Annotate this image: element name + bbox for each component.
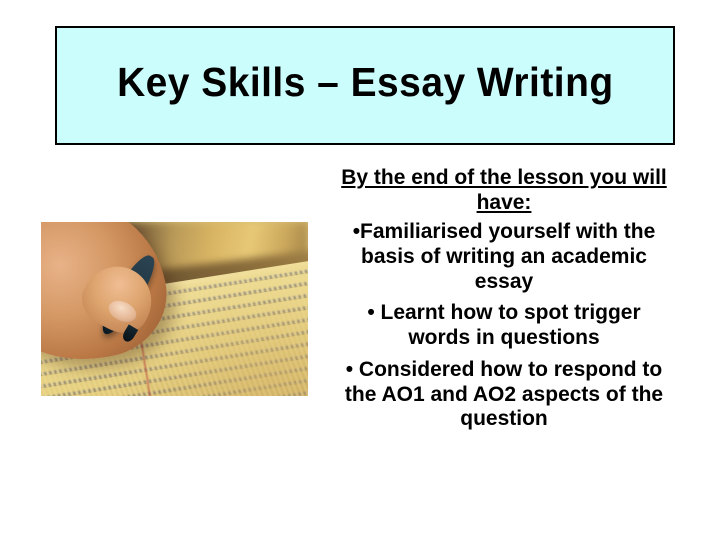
page-title: Key Skills – Essay Writing xyxy=(117,61,614,104)
objectives-heading: By the end of the lesson you will have: xyxy=(330,166,678,215)
objective-bullet-1: •Familiarised yourself with the basis of… xyxy=(330,220,678,294)
slide-canvas: Key Skills – Essay Writing By the end of… xyxy=(0,0,728,546)
objectives-list: By the end of the lesson you will have: … xyxy=(330,166,678,439)
title-box: Key Skills – Essay Writing xyxy=(55,26,675,145)
writing-photo xyxy=(41,222,308,396)
objective-bullet-2: • Learnt how to spot trigger words in qu… xyxy=(330,301,678,351)
objective-bullet-3: • Considered how to respond to the AO1 a… xyxy=(330,358,678,432)
